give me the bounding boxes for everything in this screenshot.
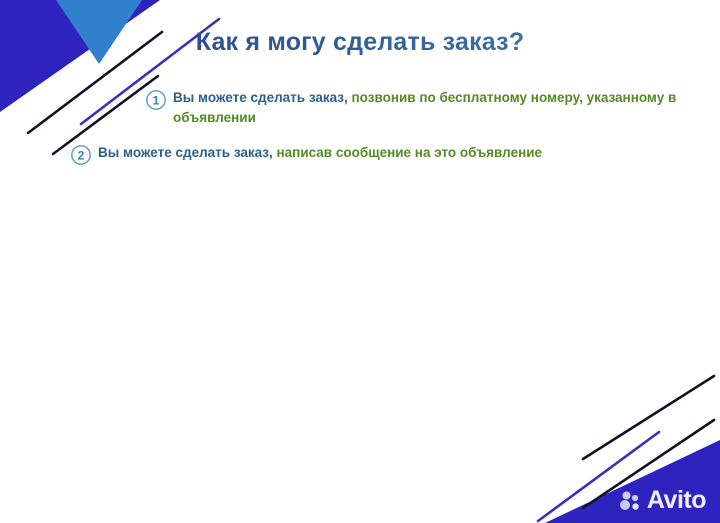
list-item-highlight-text: написав сообщение на это объявление: [277, 145, 543, 160]
circled-number-one-icon: 1: [145, 89, 167, 111]
avito-wordmark: Avito: [647, 488, 706, 513]
decoration-layer: [0, 0, 720, 523]
bottom-diagonal-line-1: [583, 376, 714, 459]
list-item-text: Вы можете сделать заказ, позвонив по бес…: [173, 88, 690, 127]
avito-paw-logo-icon: [618, 490, 644, 512]
answer-list: 1 Вы можете сделать заказ, позвонив по б…: [70, 88, 690, 182]
list-item: 2 Вы можете сделать заказ, написав сообщ…: [70, 143, 690, 166]
list-item: 1 Вы можете сделать заказ, позвонив по б…: [145, 88, 690, 127]
circled-number-two-icon: 2: [70, 144, 92, 166]
slide-title: Как я могу сделать заказ?: [0, 28, 720, 57]
badge-number-1: 1: [153, 93, 160, 107]
badge-number-2: 2: [78, 149, 85, 163]
list-item-lead-text: Вы можете сделать заказ,: [98, 145, 277, 160]
list-item-text: Вы можете сделать заказ, написав сообщен…: [98, 143, 542, 163]
list-item-lead-text: Вы можете сделать заказ,: [173, 90, 352, 105]
slide-canvas: Как я могу сделать заказ? 1 Вы можете сд…: [0, 0, 720, 523]
avito-watermark: Avito: [618, 488, 706, 513]
